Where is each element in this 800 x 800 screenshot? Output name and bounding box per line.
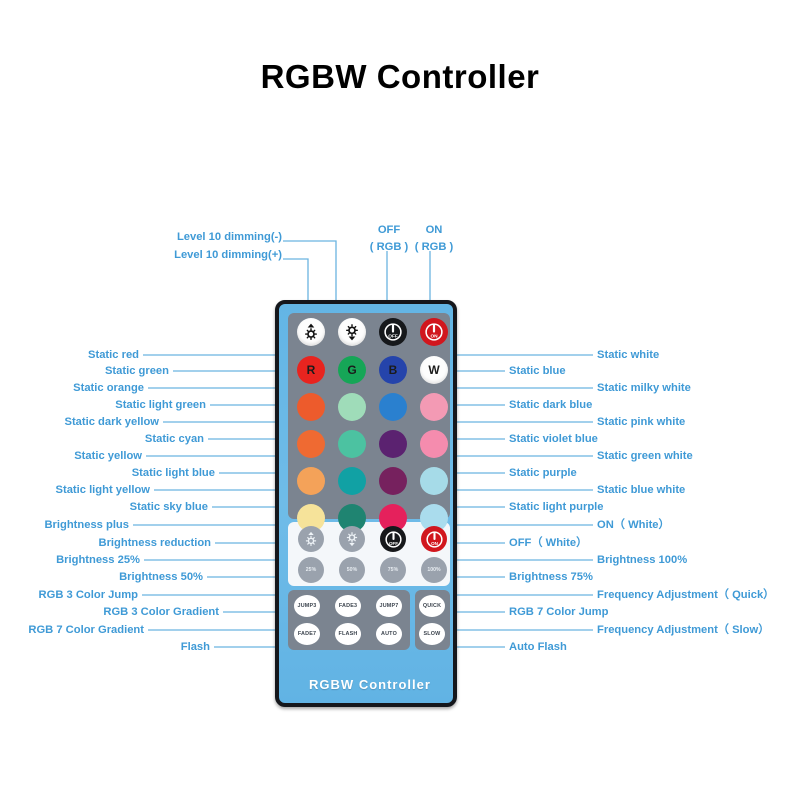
callout-static-dark-blue: Static dark blue [509,399,592,411]
white-off-button[interactable]: OFF [380,526,406,552]
fade3-button[interactable]: FADE3 [335,595,361,617]
callout-auto-flash: Auto Flash [509,641,567,653]
callout-rgb-3-color-jump: RGB 3 Color Jump [0,589,138,601]
brightness-down-white-icon [343,530,361,548]
callout-flash: Flash [0,641,210,653]
fade7-button[interactable]: FADE7 [294,623,320,645]
auto-label: AUTO [381,631,397,637]
callout-static-light-yellow: Static light yellow [0,484,150,496]
color-button-light-green[interactable] [338,393,366,421]
color-button-dark-yellow[interactable] [297,430,325,458]
callout-static-yellow: Static yellow [0,450,142,462]
callout-static-sky-blue: Static sky blue [0,501,208,513]
callout-static-purple: Static purple [509,467,577,479]
brightness-25-label: 25% [306,567,316,573]
color-button-milky-white[interactable] [420,393,448,421]
callout-level-10-dimming-plus: Level 10 dimming(+) [30,249,282,261]
jump7-label: JUMP7 [380,603,399,609]
color-button-violet-blue[interactable] [379,430,407,458]
callout-on-rgb-label: ON [414,224,454,236]
callout-static-orange: Static orange [0,382,144,394]
brightness-50-button[interactable]: 50% [339,557,365,583]
callout-static-cyan: Static cyan [0,433,204,445]
rgb-on-button-label: ON [430,334,438,340]
color-button-cyan[interactable] [338,430,366,458]
brightness-down-icon [342,322,362,342]
callout-frequency-quick: Frequency Adjustment（ Quick） [597,589,774,601]
brightness-75-label: 75% [388,567,398,573]
white-off-button-label: OFF [388,540,397,545]
callout-static-dark-yellow: Static dark yellow [0,416,159,428]
callout-static-green-white: Static green white [597,450,693,462]
brightness-75-button[interactable]: 75% [380,557,406,583]
callout-brightness-75: Brightness 75% [509,571,593,583]
quick-label: QUICK [423,603,441,609]
callout-brightness-50: Brightness 50% [0,571,203,583]
callout-static-green: Static green [0,365,169,377]
color-button-dark-blue[interactable] [379,393,407,421]
flash-button[interactable]: FLASH [335,623,361,645]
callout-brightness-plus: Brightness plus [0,519,129,531]
callout-static-red: Static red [0,349,139,361]
callout-static-light-green: Static light green [0,399,206,411]
color-button-green-white[interactable] [420,467,448,495]
color-button-yellow[interactable] [297,467,325,495]
white-on-button-label: ON [431,540,438,545]
jump7-button[interactable]: JUMP7 [376,595,402,617]
callout-brightness-100: Brightness 100% [597,554,687,566]
brightness-up-icon [301,322,321,342]
jump3-button[interactable]: JUMP3 [294,595,320,617]
callout-rgb-7-color-gradient: RGB 7 Color Gradient [0,624,144,636]
callout-static-light-blue: Static light blue [0,467,215,479]
jump3-label: JUMP3 [298,603,317,609]
power-on-icon: ON [423,321,445,343]
color-button-g[interactable]: G [338,356,366,384]
callout-static-pink-white: Static pink white [597,416,685,428]
brightness-50-label: 50% [347,567,357,573]
white-on-button[interactable]: ON [421,526,447,552]
dim-down-button[interactable] [338,318,366,346]
rgb-off-button-label: OFF [388,334,398,340]
callout-rgb-3-color-gradient: RGB 3 Color Gradient [0,606,219,618]
callout-static-blue: Static blue [509,365,566,377]
callout-static-white: Static white [597,349,659,361]
color-button-r-label: R [307,363,316,377]
power-off-icon: OFF [382,321,404,343]
color-button-light-blue[interactable] [338,467,366,495]
remote-brand-text: RGBW Controller [279,677,461,692]
dim-up-button[interactable] [297,318,325,346]
color-button-g-label: G [347,363,356,377]
callout-static-blue-white: Static blue white [597,484,685,496]
color-button-b[interactable]: B [379,356,407,384]
color-button-r[interactable]: R [297,356,325,384]
callout-frequency-slow: Frequency Adjustment（ Slow） [597,624,769,636]
callout-on-rgb-sublabel: ( RGB ) [408,241,460,253]
slow-button[interactable]: SLOW [419,623,445,645]
rgb-on-button[interactable]: ON [420,318,448,346]
brightness-100-label: 100% [427,567,440,573]
color-button-purple[interactable] [379,467,407,495]
callout-brightness-reduction: Brightness reduction [0,537,211,549]
color-button-b-label: B [389,363,398,377]
brightness-100-button[interactable]: 100% [421,557,447,583]
auto-button[interactable]: AUTO [376,623,402,645]
page-title: RGBW Controller [0,58,800,96]
quick-button[interactable]: QUICK [419,595,445,617]
callout-static-violet-blue: Static violet blue [509,433,598,445]
brightness-reduction-button[interactable] [339,526,365,552]
brightness-up-white-icon [302,530,320,548]
brightness-plus-button[interactable] [298,526,324,552]
slow-label: SLOW [424,631,441,637]
callout-off-white: OFF（ White） [509,537,587,549]
rgbw-remote-control: OFF ON R G B W [275,300,457,707]
power-off-white-icon: OFF [383,529,404,550]
callout-off-rgb-label: OFF [369,224,409,236]
callout-on-white: ON（ White） [597,519,670,531]
callout-static-milky-white: Static milky white [597,382,691,394]
fade7-label: FADE7 [298,631,316,637]
brightness-25-button[interactable]: 25% [298,557,324,583]
rgb-off-button[interactable]: OFF [379,318,407,346]
callout-brightness-25: Brightness 25% [0,554,140,566]
power-on-white-icon: ON [424,529,445,550]
flash-label: FLASH [339,631,358,637]
color-button-w[interactable]: W [420,356,448,384]
callout-rgb-7-color-jump: RGB 7 Color Jump [509,606,608,618]
callout-static-light-purple: Static light purple [509,501,603,513]
fade3-label: FADE3 [339,603,357,609]
callout-level-10-dimming-minus: Level 10 dimming(-) [30,231,282,243]
color-button-w-label: W [428,363,439,377]
color-button-pink-white[interactable] [420,430,448,458]
color-button-orange[interactable] [297,393,325,421]
